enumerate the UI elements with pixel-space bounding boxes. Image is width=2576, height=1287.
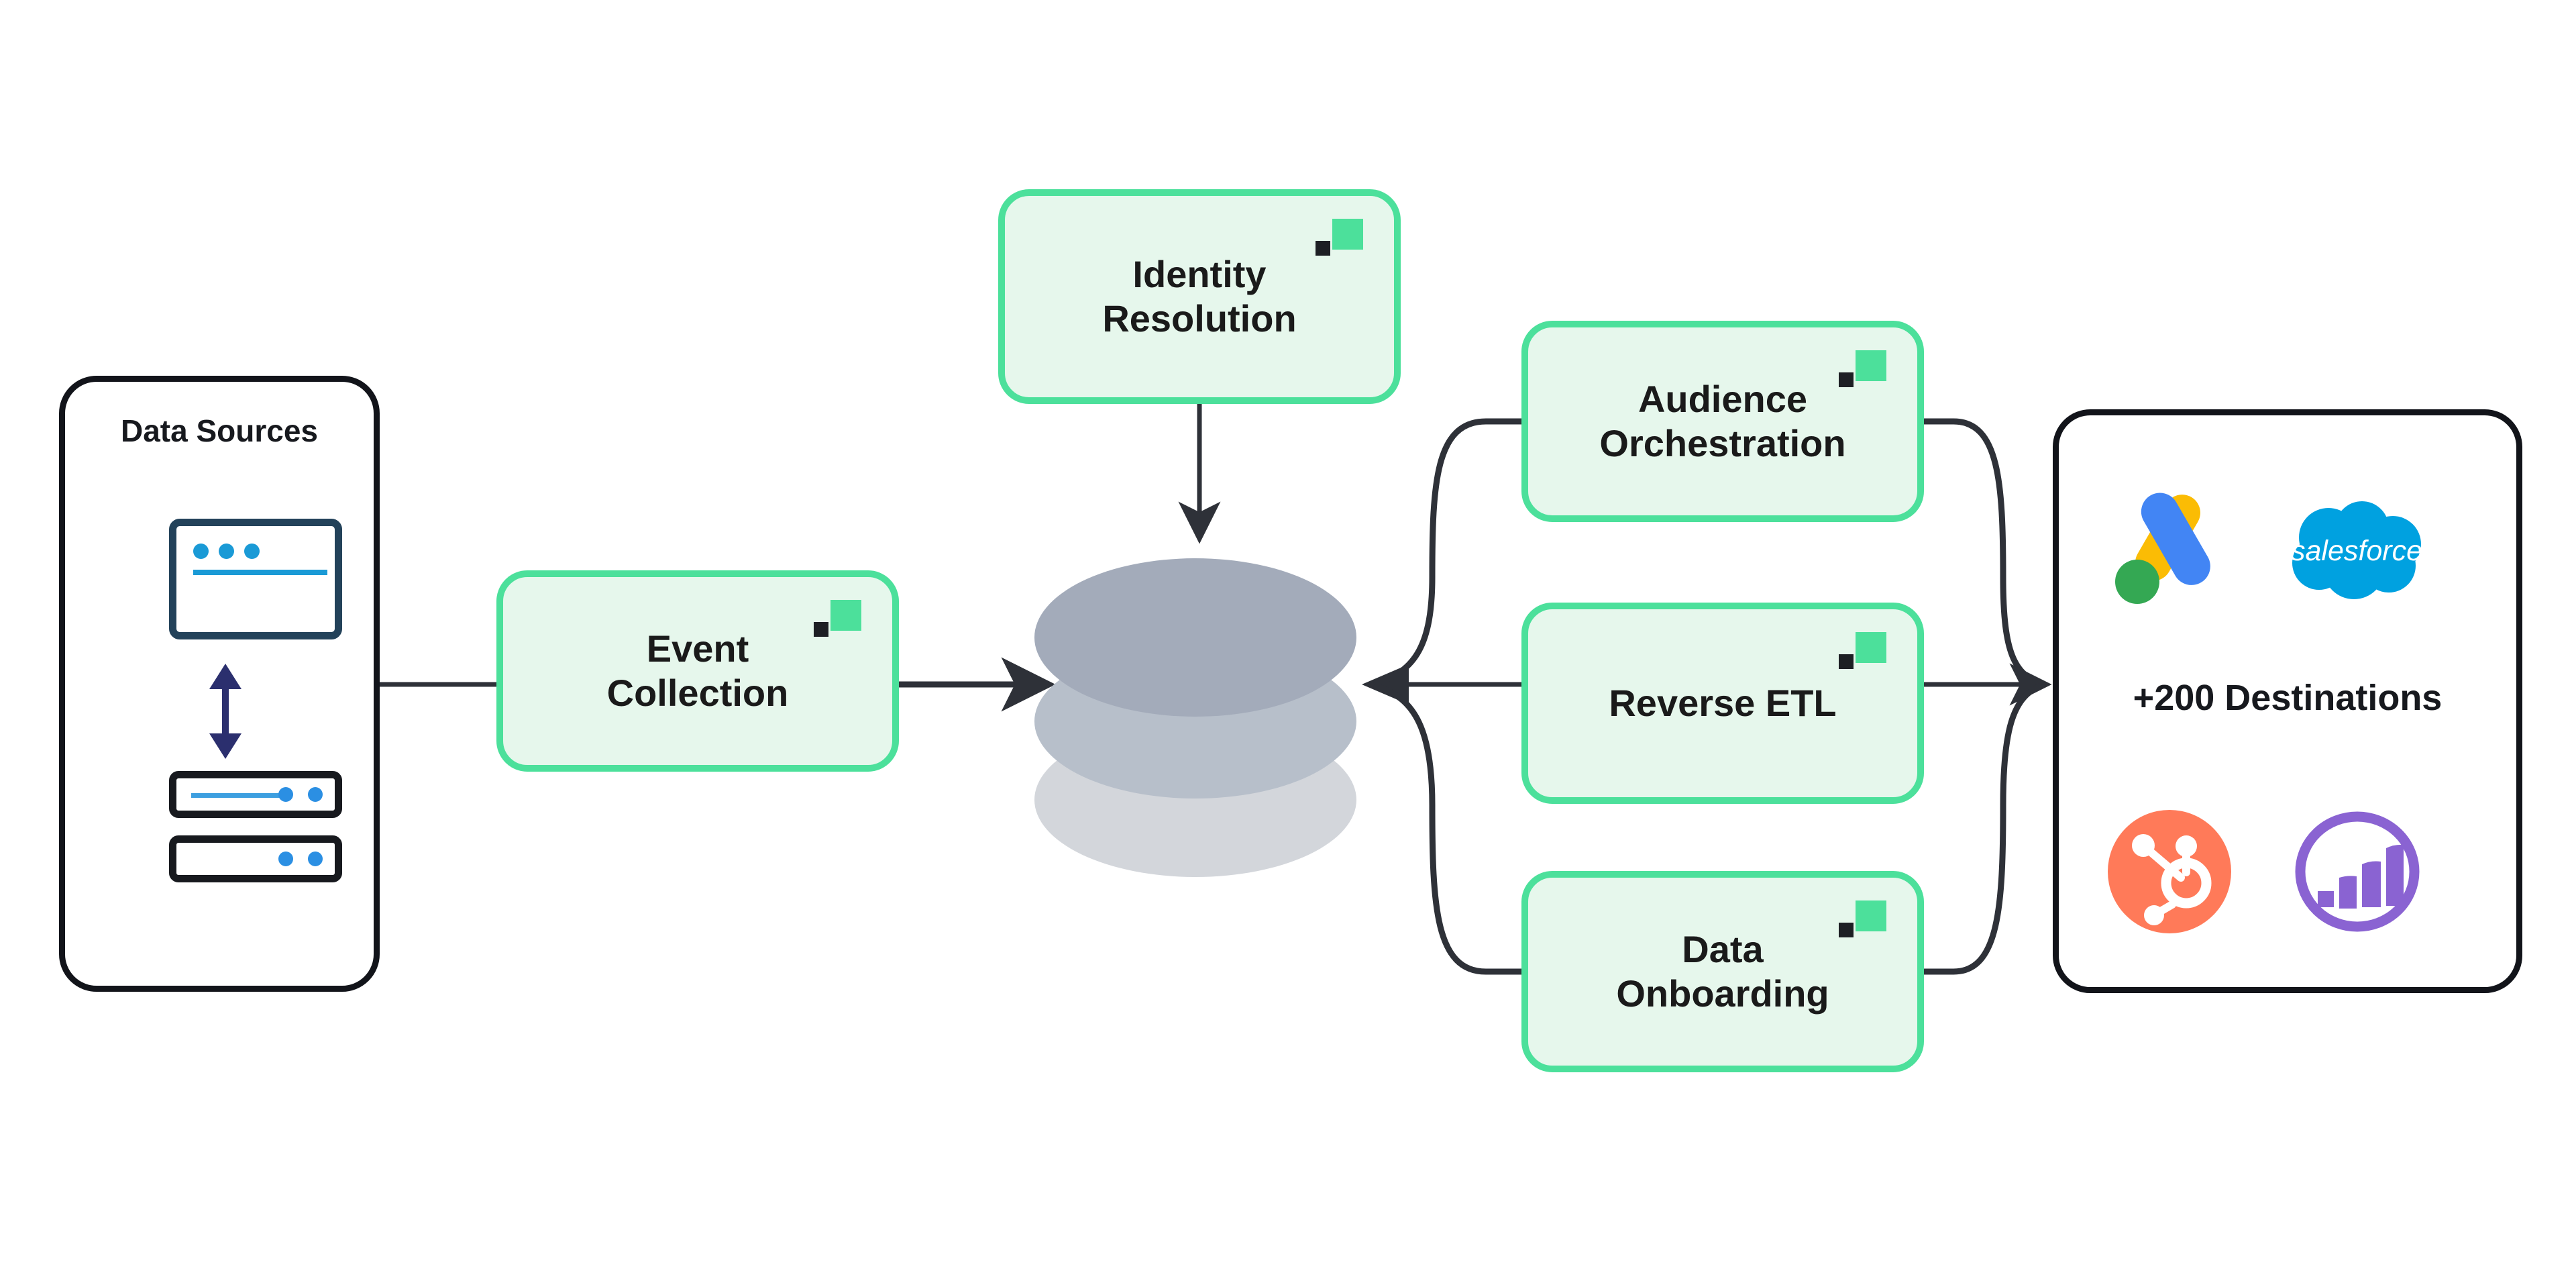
node-identity-resolution-line2: Resolution xyxy=(1102,297,1296,340)
green-square-marker xyxy=(1856,632,1886,663)
google-ads-icon xyxy=(2102,488,2237,612)
node-reverse-etl[interactable]: Reverse ETL xyxy=(1521,603,1924,804)
browser-address-line xyxy=(193,570,327,575)
node-audience-orchestration[interactable]: Audience Orchestration xyxy=(1521,321,1924,522)
green-square-marker xyxy=(1856,900,1886,931)
node-audience-orchestration-line1: Audience xyxy=(1638,378,1807,420)
salesforce-logo[interactable]: salesforce xyxy=(2280,482,2434,617)
green-square-marker xyxy=(1332,219,1363,250)
node-audience-orchestration-line2: Orchestration xyxy=(1599,422,1845,464)
node-event-collection-line1: Event xyxy=(647,627,749,670)
server-dot-1 xyxy=(278,787,293,802)
browser-dot-2 xyxy=(219,544,234,559)
hubspot-sprocket-icon xyxy=(2106,808,2233,935)
salesforce-cloud-icon: salesforce xyxy=(2287,496,2428,603)
diagram-canvas: Data Sources Event Collection xyxy=(0,0,2576,1287)
hubspot-logo[interactable] xyxy=(2092,805,2247,939)
node-reverse-etl-label: Reverse ETL xyxy=(1590,681,1855,725)
salesforce-wordmark: salesforce xyxy=(2291,535,2422,567)
node-event-collection[interactable]: Event Collection xyxy=(496,570,899,772)
server-dot-2 xyxy=(308,787,323,802)
node-event-collection-line2: Collection xyxy=(607,672,789,714)
node-identity-resolution-line1: Identity xyxy=(1132,253,1266,295)
green-square-marker xyxy=(830,600,861,631)
node-data-onboarding[interactable]: Data Onboarding xyxy=(1521,871,1924,1072)
browser-window-icon xyxy=(169,519,342,639)
data-sources-title: Data Sources xyxy=(65,413,374,449)
server-unit-top xyxy=(169,771,342,818)
server-dot-3 xyxy=(278,852,293,866)
node-identity-resolution[interactable]: Identity Resolution xyxy=(998,189,1401,404)
marketo-logo[interactable] xyxy=(2280,805,2434,939)
browser-dot-1 xyxy=(193,544,209,559)
node-data-onboarding-line2: Onboarding xyxy=(1616,972,1829,1015)
server-status-line xyxy=(191,793,285,798)
destinations-title: +200 Destinations xyxy=(2059,677,2516,719)
server-dot-4 xyxy=(308,852,323,866)
marketo-bars-icon xyxy=(2294,808,2421,935)
destinations-panel[interactable]: salesforce +200 Destinations xyxy=(2053,409,2522,993)
google-ads-logo[interactable] xyxy=(2092,482,2247,617)
double-headed-arrow-icon xyxy=(197,661,254,762)
warehouse-disc-top xyxy=(1034,558,1356,717)
server-unit-bottom xyxy=(169,835,342,882)
node-data-onboarding-line1: Data xyxy=(1682,928,1763,970)
browser-dot-3 xyxy=(244,544,260,559)
data-sources-panel[interactable]: Data Sources xyxy=(59,376,380,992)
